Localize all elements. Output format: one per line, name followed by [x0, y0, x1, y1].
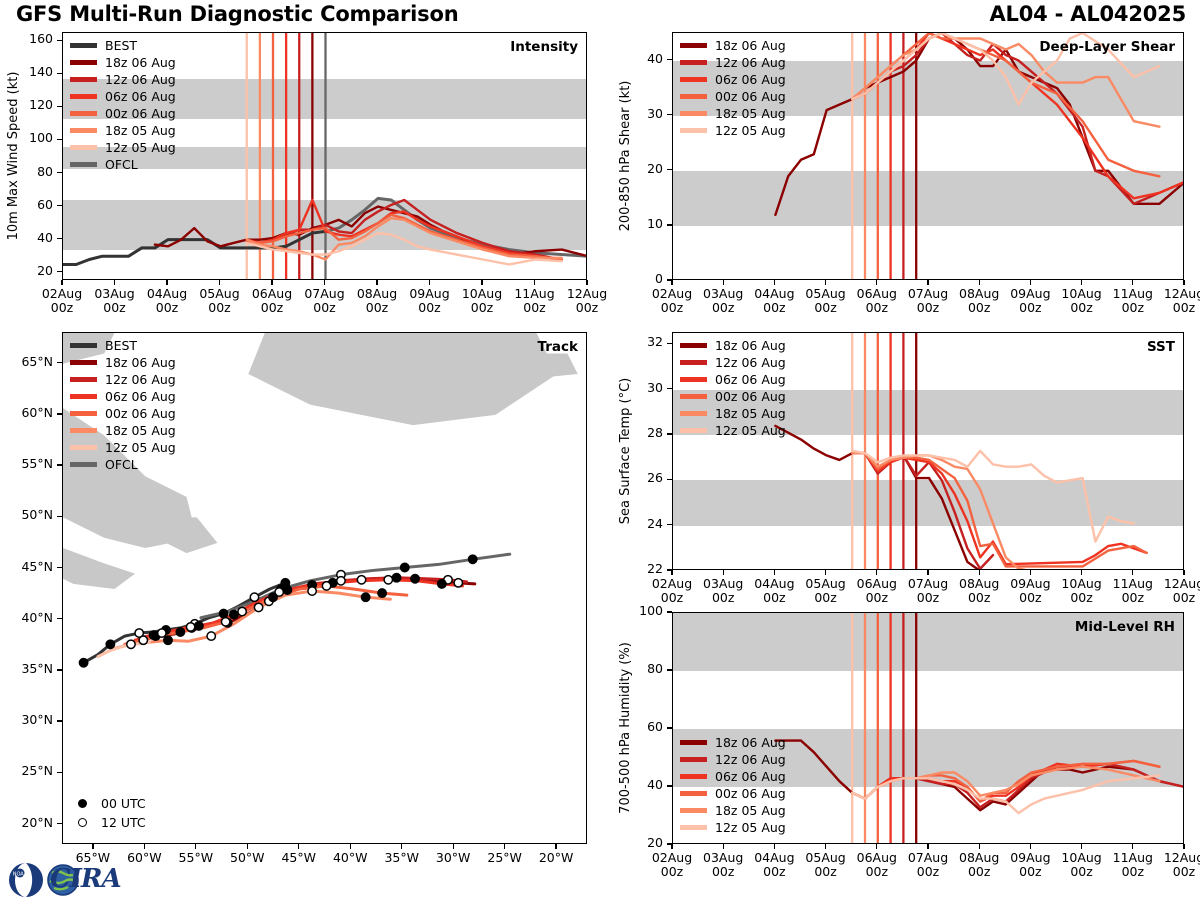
x-tick-date: 03Aug: [703, 850, 743, 865]
legend-row: 00z 06 Aug: [70, 405, 176, 422]
y-tick-mark: [57, 139, 62, 140]
x-tick-mark: [927, 570, 928, 575]
marker-legend-row: 00 UTC: [70, 794, 146, 813]
noaa-icon: NOAA: [6, 862, 46, 898]
x-tick-date: 10Aug: [1061, 850, 1101, 865]
x-tick-mark: [979, 280, 980, 285]
panel-title: SST: [1147, 339, 1175, 355]
lon-tick-mark: [504, 844, 505, 849]
x-tick-hour: 00z: [968, 864, 990, 879]
legend-color-swatch: [70, 145, 97, 149]
y-tick-mark: [667, 114, 672, 115]
lat-tick-label: 55°N: [1, 458, 53, 471]
x-tick-date: 09Aug: [1010, 286, 1050, 301]
x-tick-mark: [774, 280, 775, 285]
x-tick-hour: 00z: [763, 300, 785, 315]
x-tick-date: 09Aug: [1010, 576, 1050, 591]
x-tick-date: 07Aug: [908, 850, 948, 865]
legend-label: 18z 06 Aug: [105, 55, 176, 70]
y-axis-label: 700-500 hPa Humidity (%): [618, 612, 633, 844]
x-tick-date: 09Aug: [1010, 850, 1050, 865]
x-tick-mark: [723, 280, 724, 285]
legend-row: 06z 06 Aug: [680, 768, 786, 785]
legend-label: 12z 06 Aug: [105, 72, 176, 87]
legend-row: 18z 05 Aug: [680, 105, 786, 122]
x-tick-mark: [671, 280, 672, 285]
y-tick-mark: [57, 106, 62, 107]
x-tick-mark: [166, 280, 167, 285]
legend-label: 06z 06 Aug: [715, 372, 786, 387]
legend-label: BEST: [105, 338, 137, 353]
legend-color-swatch: [680, 343, 707, 347]
legend-row: 18z 05 Aug: [680, 405, 786, 422]
legend-row: 12z 06 Aug: [70, 71, 176, 88]
lon-tick-mark: [92, 844, 93, 849]
x-tick-mark: [481, 280, 482, 285]
legend-label: 18z 05 Aug: [105, 123, 176, 138]
legend-label: 18z 06 Aug: [105, 355, 176, 370]
x-tick-hour: 00z: [1070, 300, 1092, 315]
marker-legend: 00 UTC12 UTC: [70, 794, 146, 832]
x-tick-date: 04Aug: [147, 286, 187, 301]
page-title: GFS Multi-Run Diagnostic Comparison: [16, 2, 458, 26]
lat-tick-mark: [57, 720, 62, 721]
legend-color-swatch: [70, 77, 97, 81]
x-tick-hour: 00z: [1019, 300, 1041, 315]
legend-color-swatch: [70, 394, 97, 398]
x-tick-mark: [1081, 570, 1082, 575]
x-tick-mark: [671, 844, 672, 849]
noaa-label: NOAA: [13, 872, 28, 878]
x-tick-date: 09Aug: [409, 286, 449, 301]
x-tick-date: 12Aug: [1164, 576, 1200, 591]
x-tick-date: 02Aug: [42, 286, 82, 301]
x-tick-date: 10Aug: [1061, 576, 1101, 591]
x-tick-hour: 00z: [917, 590, 939, 605]
legend-row: OFCL: [70, 456, 176, 473]
legend-label: 00z 06 Aug: [105, 106, 176, 121]
x-tick-mark: [1081, 844, 1082, 849]
x-tick-mark: [534, 280, 535, 285]
x-tick-hour: 00z: [1122, 300, 1144, 315]
lat-tick-mark: [57, 772, 62, 773]
legend-label: 12z 05 Aug: [105, 440, 176, 455]
x-tick-mark: [1030, 570, 1031, 575]
legend-color-swatch: [70, 94, 97, 98]
x-tick-date: 05Aug: [805, 850, 845, 865]
x-tick-hour: 00z: [712, 864, 734, 879]
y-tick-mark: [667, 59, 672, 60]
panel-title: Deep-Layer Shear: [1039, 39, 1175, 55]
y-tick-mark: [667, 785, 672, 786]
legend-row: BEST: [70, 37, 176, 54]
legend-color-swatch: [680, 428, 707, 432]
x-tick-hour: 00z: [208, 300, 230, 315]
x-tick-date: 07Aug: [908, 576, 948, 591]
legend-color-swatch: [70, 428, 97, 432]
legend-label: OFCL: [105, 457, 138, 472]
x-tick-date: 06Aug: [857, 286, 897, 301]
legend-label: 18z 06 Aug: [715, 338, 786, 353]
x-tick-mark: [723, 844, 724, 849]
x-tick-label: 12Aug00z: [557, 287, 617, 316]
lat-tick-label: 30°N: [1, 714, 53, 727]
x-tick-mark: [927, 280, 928, 285]
rh-panel: 20406080100700-500 hPa Humidity (%)02Aug…: [672, 612, 1184, 844]
x-tick-mark: [1132, 570, 1133, 575]
x-tick-label: 08Aug00z: [347, 287, 407, 316]
legend-color-swatch: [680, 60, 707, 64]
legend-row: 00z 06 Aug: [680, 88, 786, 105]
x-tick-hour: 00z: [968, 300, 990, 315]
panel-legend: BEST18z 06 Aug12z 06 Aug06z 06 Aug00z 06…: [70, 37, 176, 173]
legend-color-swatch: [680, 394, 707, 398]
x-tick-date: 06Aug: [857, 850, 897, 865]
legend-label: 12z 06 Aug: [105, 372, 176, 387]
legend-color-swatch: [680, 791, 707, 795]
legend-label: 12z 05 Aug: [105, 140, 176, 155]
legend-color-swatch: [70, 128, 97, 132]
lat-tick-label: 65°N: [1, 356, 53, 369]
intensity-panel: 2040608010012014016010m Max Wind Speed (…: [62, 32, 587, 280]
x-tick-date: 11Aug: [1113, 286, 1153, 301]
lon-tick-label: 20°W: [526, 851, 586, 865]
legend-label: 12z 05 Aug: [715, 423, 786, 438]
x-tick-hour: 00z: [51, 300, 73, 315]
x-tick-hour: 00z: [471, 300, 493, 315]
y-tick-mark: [667, 727, 672, 728]
panel-legend: 18z 06 Aug12z 06 Aug06z 06 Aug00z 06 Aug…: [680, 734, 786, 836]
lat-tick-label: 35°N: [1, 663, 53, 676]
x-tick-date: 05Aug: [805, 286, 845, 301]
legend-color-swatch: [680, 43, 707, 47]
x-tick-hour: 00z: [1173, 590, 1195, 605]
y-tick-mark: [57, 73, 62, 74]
x-tick-label: 12Aug00z: [1154, 577, 1200, 606]
legend-row: 12z 05 Aug: [70, 139, 176, 156]
legend-label: 00z 06 Aug: [715, 786, 786, 801]
x-tick-hour: 00z: [661, 864, 683, 879]
legend-row: 06z 06 Aug: [680, 371, 786, 388]
x-tick-date: 12Aug: [1164, 850, 1200, 865]
y-tick-mark: [667, 343, 672, 344]
x-tick-hour: 00z: [866, 864, 888, 879]
lat-tick-label: 50°N: [1, 509, 53, 522]
marker-legend-label: 00 UTC: [101, 796, 146, 811]
legend-label: 12z 06 Aug: [715, 752, 786, 767]
y-tick-mark: [667, 169, 672, 170]
legend-color-swatch: [70, 162, 97, 166]
y-axis-label: 10m Max Wind Speed (kt): [6, 32, 21, 280]
marker-legend-row: 12 UTC: [70, 813, 146, 832]
x-tick-mark: [979, 844, 980, 849]
legend-row: 18z 06 Aug: [680, 37, 786, 54]
lat-tick-mark: [57, 567, 62, 568]
x-tick-label: 07Aug00z: [295, 287, 355, 316]
legend-row: 18z 06 Aug: [680, 337, 786, 354]
panel-legend: BEST18z 06 Aug12z 06 Aug06z 06 Aug00z 06…: [70, 337, 176, 473]
lat-tick-mark: [57, 413, 62, 414]
y-axis-label: 200-850 hPa Shear (kt): [618, 32, 633, 280]
legend-color-swatch: [680, 757, 707, 761]
lon-tick-mark: [555, 844, 556, 849]
x-tick-mark: [825, 844, 826, 849]
x-tick-label: 10Aug00z: [452, 287, 512, 316]
legend-label: 12z 05 Aug: [715, 123, 786, 138]
x-tick-date: 10Aug: [1061, 286, 1101, 301]
lon-tick-mark: [298, 844, 299, 849]
legend-row: 06z 06 Aug: [70, 88, 176, 105]
legend-label: 06z 06 Aug: [105, 89, 176, 104]
x-tick-hour: 00z: [1019, 864, 1041, 879]
x-tick-hour: 00z: [103, 300, 125, 315]
lon-tick-mark: [144, 844, 145, 849]
x-tick-hour: 00z: [917, 300, 939, 315]
x-tick-hour: 00z: [313, 300, 335, 315]
x-tick-label: 05Aug00z: [190, 287, 250, 316]
x-tick-mark: [376, 280, 377, 285]
x-tick-hour: 00z: [763, 864, 785, 879]
y-tick-mark: [667, 611, 672, 612]
x-tick-date: 11Aug: [514, 286, 554, 301]
x-tick-mark: [324, 280, 325, 285]
y-tick-mark: [667, 524, 672, 525]
x-tick-date: 07Aug: [304, 286, 344, 301]
filled-marker-icon: [78, 799, 87, 808]
lat-tick-mark: [57, 823, 62, 824]
legend-color-swatch: [70, 411, 97, 415]
x-tick-hour: 00z: [814, 864, 836, 879]
x-tick-hour: 00z: [1070, 864, 1092, 879]
x-tick-hour: 00z: [1070, 590, 1092, 605]
legend-color-swatch: [70, 43, 97, 47]
legend-row: OFCL: [70, 156, 176, 173]
legend-color-swatch: [680, 774, 707, 778]
legend-label: 06z 06 Aug: [105, 389, 176, 404]
x-tick-label: 04Aug00z: [137, 287, 197, 316]
legend-row: 12z 05 Aug: [680, 122, 786, 139]
lat-tick-mark: [57, 362, 62, 363]
x-tick-date: 03Aug: [703, 576, 743, 591]
x-tick-mark: [876, 280, 877, 285]
legend-row: 12z 06 Aug: [680, 54, 786, 71]
legend-color-swatch: [680, 94, 707, 98]
x-tick-hour: 00z: [156, 300, 178, 315]
x-tick-mark: [774, 844, 775, 849]
legend-row: 06z 06 Aug: [70, 388, 176, 405]
x-tick-mark: [1030, 280, 1031, 285]
x-tick-mark: [61, 280, 62, 285]
x-tick-mark: [1132, 280, 1133, 285]
x-tick-mark: [723, 570, 724, 575]
x-tick-hour: 00z: [866, 590, 888, 605]
x-tick-date: 03Aug: [703, 286, 743, 301]
legend-row: 06z 06 Aug: [680, 71, 786, 88]
lat-tick-label: 45°N: [1, 561, 53, 574]
y-tick-mark: [57, 271, 62, 272]
x-tick-date: 05Aug: [199, 286, 239, 301]
y-tick-mark: [667, 669, 672, 670]
x-tick-date: 02Aug: [652, 850, 692, 865]
x-tick-date: 04Aug: [754, 576, 794, 591]
lat-tick-mark: [57, 464, 62, 465]
x-tick-mark: [876, 570, 877, 575]
y-tick-mark: [667, 479, 672, 480]
lat-tick-mark: [57, 618, 62, 619]
legend-label: 18z 05 Aug: [715, 406, 786, 421]
legend-label: 06z 06 Aug: [715, 72, 786, 87]
x-tick-mark: [114, 280, 115, 285]
x-tick-hour: 00z: [712, 300, 734, 315]
x-tick-date: 11Aug: [1113, 850, 1153, 865]
legend-color-swatch: [70, 360, 97, 364]
y-axis-label: Sea Surface Temp (°C): [618, 332, 633, 570]
x-tick-hour: 00z: [1173, 300, 1195, 315]
legend-color-swatch: [680, 111, 707, 115]
x-tick-mark: [927, 844, 928, 849]
x-tick-hour: 00z: [1122, 864, 1144, 879]
x-tick-hour: 00z: [576, 300, 598, 315]
x-tick-date: 10Aug: [462, 286, 502, 301]
legend-label: 00z 06 Aug: [105, 406, 176, 421]
open-marker-icon: [78, 818, 87, 827]
x-tick-label: 02Aug00z: [32, 287, 92, 316]
x-tick-date: 03Aug: [94, 286, 134, 301]
panel-legend: 18z 06 Aug12z 06 Aug06z 06 Aug00z 06 Aug…: [680, 337, 786, 439]
x-tick-date: 04Aug: [754, 286, 794, 301]
legend-color-swatch: [70, 111, 97, 115]
x-tick-hour: 00z: [1173, 864, 1195, 879]
legend-color-swatch: [680, 808, 707, 812]
panel-legend: 18z 06 Aug12z 06 Aug06z 06 Aug00z 06 Aug…: [680, 37, 786, 139]
legend-label: 00z 06 Aug: [715, 389, 786, 404]
legend-color-swatch: [680, 77, 707, 81]
lat-tick-label: 25°N: [1, 765, 53, 778]
x-tick-hour: 00z: [866, 300, 888, 315]
x-tick-date: 02Aug: [652, 576, 692, 591]
legend-label: OFCL: [105, 157, 138, 172]
x-tick-date: 08Aug: [959, 286, 999, 301]
legend-row: 18z 05 Aug: [70, 422, 176, 439]
x-tick-date: 02Aug: [652, 286, 692, 301]
legend-row: 12z 05 Aug: [680, 422, 786, 439]
x-tick-mark: [825, 570, 826, 575]
y-tick-mark: [667, 388, 672, 389]
shear-panel: 010203040200-850 hPa Shear (kt)02Aug00z0…: [672, 32, 1184, 280]
legend-row: 00z 06 Aug: [680, 785, 786, 802]
x-tick-hour: 00z: [712, 590, 734, 605]
lon-tick-mark: [247, 844, 248, 849]
legend-row: 12z 05 Aug: [680, 819, 786, 836]
x-tick-date: 08Aug: [959, 576, 999, 591]
legend-row: 12z 05 Aug: [70, 439, 176, 456]
x-tick-label: 12Aug00z: [1154, 287, 1200, 316]
x-tick-date: 11Aug: [1113, 576, 1153, 591]
x-tick-hour: 00z: [814, 300, 836, 315]
legend-label: BEST: [105, 38, 137, 53]
legend-color-swatch: [70, 60, 97, 64]
y-tick-mark: [57, 172, 62, 173]
lon-tick-mark: [401, 844, 402, 849]
legend-row: BEST: [70, 337, 176, 354]
x-tick-mark: [1132, 844, 1133, 849]
legend-color-swatch: [680, 377, 707, 381]
x-tick-hour: 00z: [261, 300, 283, 315]
legend-label: 12z 06 Aug: [715, 355, 786, 370]
panel-title: Mid-Level RH: [1075, 619, 1175, 635]
x-tick-date: 06Aug: [857, 576, 897, 591]
x-tick-label: 12Aug00z: [1154, 851, 1200, 880]
x-tick-mark: [429, 280, 430, 285]
legend-label: 12z 05 Aug: [715, 820, 786, 835]
panel-title: Intensity: [510, 39, 578, 55]
x-tick-mark: [774, 570, 775, 575]
x-tick-label: 06Aug00z: [242, 287, 302, 316]
x-tick-hour: 00z: [814, 590, 836, 605]
legend-label: 00z 06 Aug: [715, 89, 786, 104]
lat-tick-label: 60°N: [1, 407, 53, 420]
x-tick-hour: 00z: [661, 300, 683, 315]
lon-tick-mark: [453, 844, 454, 849]
y-tick-mark: [57, 205, 62, 206]
x-tick-date: 12Aug: [567, 286, 607, 301]
x-tick-hour: 00z: [523, 300, 545, 315]
lat-tick-mark: [57, 516, 62, 517]
storm-id-label: AL04 - AL042025: [989, 2, 1186, 26]
legend-row: 12z 06 Aug: [70, 371, 176, 388]
x-tick-date: 08Aug: [357, 286, 397, 301]
legend-color-swatch: [680, 411, 707, 415]
legend-label: 18z 06 Aug: [715, 38, 786, 53]
x-tick-date: 06Aug: [252, 286, 292, 301]
legend-label: 06z 06 Aug: [715, 769, 786, 784]
x-tick-hour: 00z: [1019, 590, 1041, 605]
y-tick-mark: [667, 224, 672, 225]
track-panel: 20°N25°N30°N35°N40°N45°N50°N55°N60°N65°N…: [62, 332, 587, 844]
lon-tick-mark: [195, 844, 196, 849]
x-tick-mark: [586, 280, 587, 285]
y-tick-mark: [57, 238, 62, 239]
legend-row: 18z 06 Aug: [70, 54, 176, 71]
x-tick-label: 11Aug00z: [505, 287, 565, 316]
lon-tick-mark: [350, 844, 351, 849]
legend-row: 18z 05 Aug: [680, 802, 786, 819]
cira-label: CIRA: [50, 864, 121, 894]
legend-label: 18z 05 Aug: [715, 106, 786, 121]
legend-label: 18z 06 Aug: [715, 735, 786, 750]
legend-color-swatch: [680, 360, 707, 364]
legend-row: 18z 06 Aug: [680, 734, 786, 751]
x-tick-mark: [825, 280, 826, 285]
cira-noaa-logo: NOAA CIRA: [6, 862, 128, 898]
lat-tick-label: 40°N: [1, 612, 53, 625]
x-tick-hour: 00z: [763, 590, 785, 605]
x-tick-hour: 00z: [366, 300, 388, 315]
x-tick-mark: [671, 570, 672, 575]
x-tick-hour: 00z: [968, 590, 990, 605]
x-tick-date: 05Aug: [805, 576, 845, 591]
x-tick-mark: [1183, 570, 1184, 575]
marker-legend-label: 12 UTC: [101, 815, 146, 830]
x-tick-date: 12Aug: [1164, 286, 1200, 301]
legend-color-swatch: [680, 825, 707, 829]
legend-row: 18z 05 Aug: [70, 122, 176, 139]
legend-color-swatch: [70, 445, 97, 449]
legend-color-swatch: [680, 128, 707, 132]
x-tick-hour: 00z: [661, 590, 683, 605]
x-tick-mark: [1183, 844, 1184, 849]
x-tick-mark: [1081, 280, 1082, 285]
